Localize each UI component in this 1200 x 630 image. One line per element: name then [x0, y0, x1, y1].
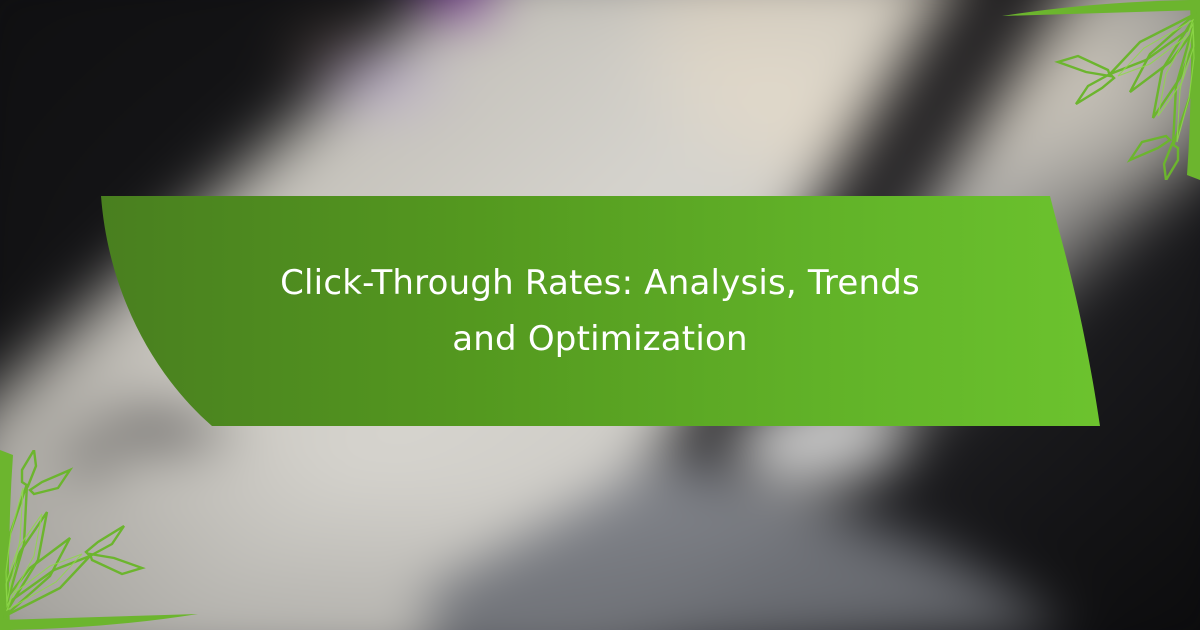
bottom-left-corner-ornament — [0, 450, 210, 630]
ornament-leaf-8 — [1164, 144, 1178, 180]
ornament-leaf-8 — [22, 450, 36, 486]
ornament-frond-group — [1058, 14, 1196, 180]
banner-canvas: Click-Through Rates: Analysis, Trends an… — [0, 0, 1200, 630]
corner-wedge-horizontal — [0, 614, 198, 630]
ornament-leaf-6 — [86, 526, 124, 556]
top-right-corner-ornament — [990, 0, 1200, 180]
ornament-leaf-6 — [1076, 74, 1114, 104]
ornament-frond-group — [4, 450, 142, 616]
banner-title: Click-Through Rates: Analysis, Trends an… — [240, 196, 960, 426]
ornament-leaf-5 — [90, 554, 142, 574]
ornament-leaf-7 — [1130, 136, 1170, 160]
corner-wedge-horizontal — [1002, 0, 1200, 16]
title-banner: Click-Through Rates: Analysis, Trends an… — [0, 196, 1200, 426]
banner-title-text: Click-Through Rates: Analysis, Trends an… — [246, 255, 954, 367]
ornament-leaf-7 — [30, 470, 70, 494]
ornament-leaf-5 — [1058, 56, 1110, 76]
